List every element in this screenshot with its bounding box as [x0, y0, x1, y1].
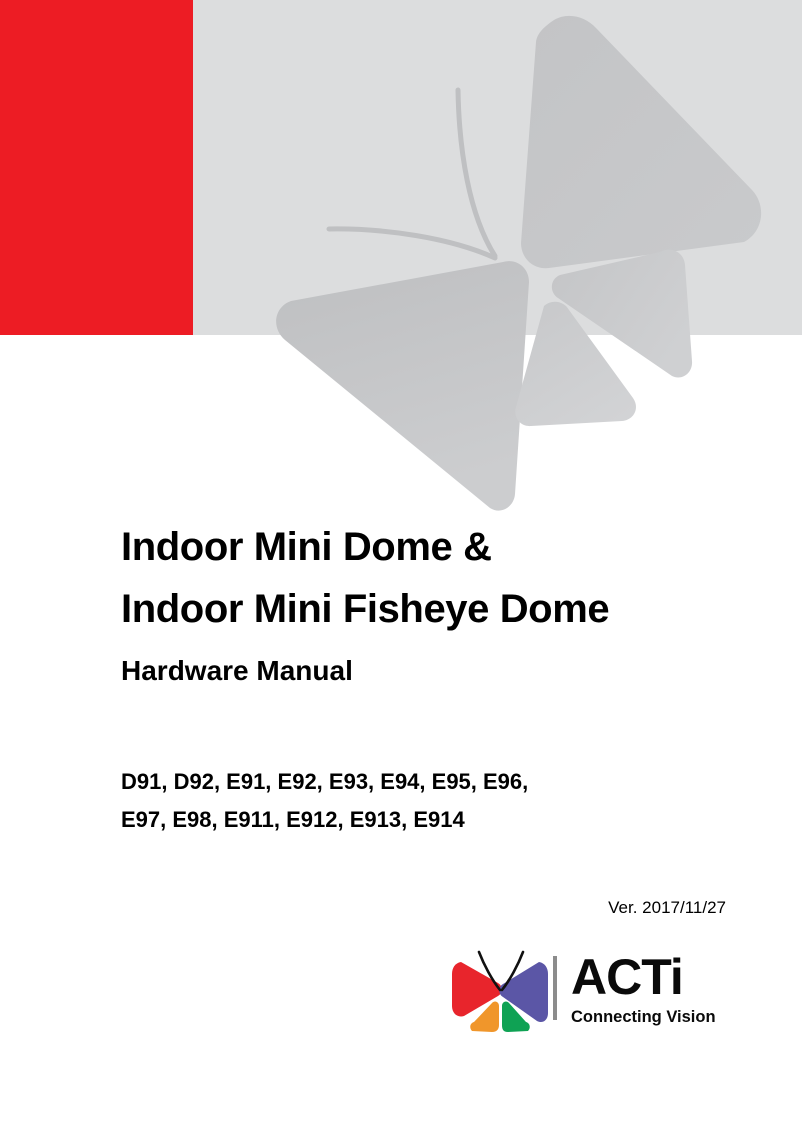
document-subtitle: Hardware Manual	[121, 648, 781, 694]
page-title: Indoor Mini Dome & Indoor Mini Fisheye D…	[121, 516, 781, 694]
logo-divider	[553, 956, 557, 1020]
version-label: Ver. 2017/11/27	[608, 898, 726, 918]
model-number-list: D91, D92, E91, E92, E93, E94, E95, E96, …	[121, 763, 761, 839]
header-red-accent-bar	[0, 0, 193, 335]
acti-tagline: Connecting Vision	[571, 1006, 736, 1028]
acti-wordmark: ACTi	[571, 950, 736, 1004]
logo-text-group: ACTi Connecting Vision	[571, 950, 736, 1028]
acti-butterfly-logo-icon	[452, 950, 548, 1034]
title-line-2: Indoor Mini Fisheye Dome	[121, 578, 781, 640]
model-line-2: E97, E98, E911, E912, E913, E914	[121, 801, 761, 839]
model-line-1: D91, D92, E91, E92, E93, E94, E95, E96,	[121, 763, 761, 801]
acti-logo: ACTi Connecting Vision	[452, 950, 732, 1040]
header-gray-band	[0, 0, 802, 335]
manual-cover-page: Indoor Mini Dome & Indoor Mini Fisheye D…	[0, 0, 802, 1134]
title-line-1: Indoor Mini Dome &	[121, 516, 781, 578]
